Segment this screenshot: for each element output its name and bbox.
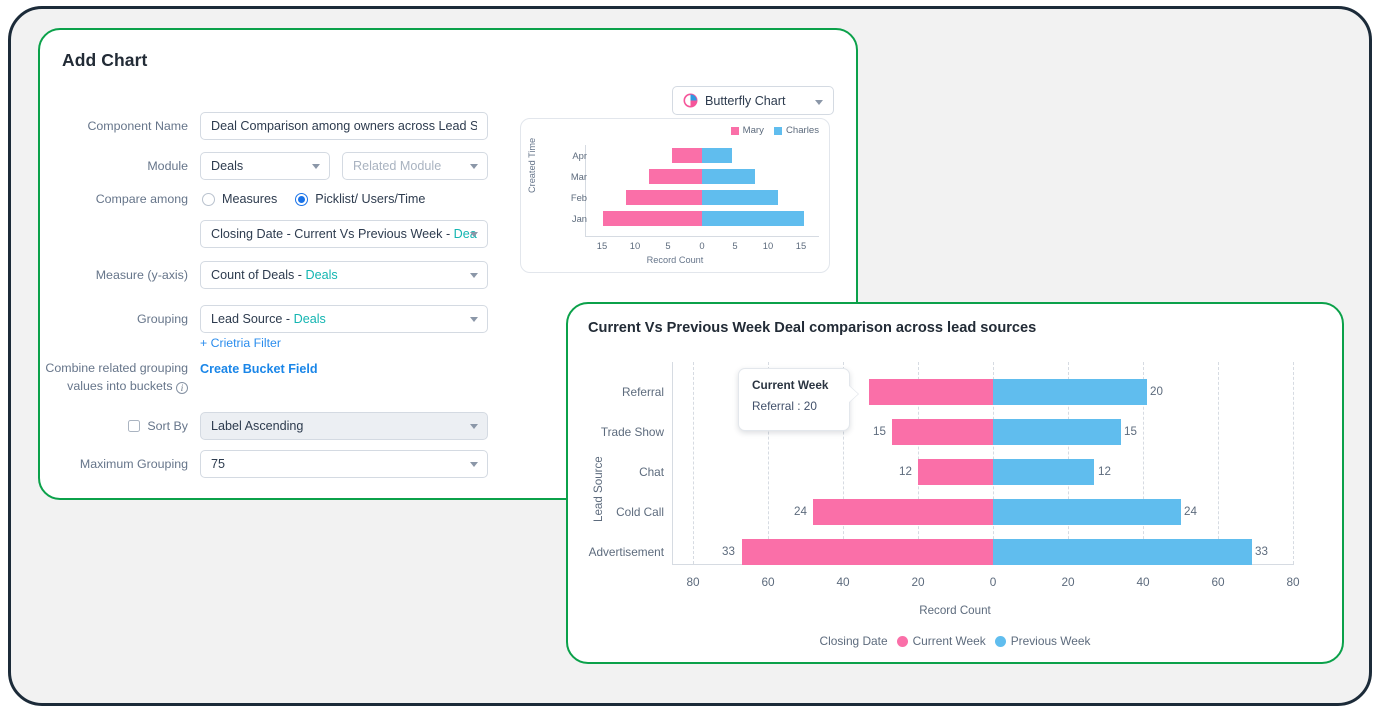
screenshot-root: Add Chart Component Name Deal Comparison… (0, 0, 1380, 712)
chevron-down-icon (470, 164, 478, 169)
chart-value-right: 15 (1124, 425, 1137, 438)
pie-chart-icon (683, 93, 698, 108)
preview-tick: 5 (658, 240, 678, 251)
measure-module: Deals (306, 268, 338, 282)
tooltip-text: Referral : 20 (752, 399, 849, 413)
preview-tick: 5 (725, 240, 745, 251)
field-measure: Measure (y-axis) Count of Deals - Deals (40, 261, 510, 289)
tooltip-title: Current Week (752, 378, 849, 392)
field-module: Module Deals Related Module (40, 152, 510, 180)
chart-value-left: 24 (794, 505, 807, 518)
field-compare-among: Compare among Measures Picklist/ Users/T… (40, 192, 510, 206)
chart-value-right: 20 (1150, 385, 1163, 398)
module-select[interactable]: Deals (200, 152, 330, 180)
chevron-down-icon (470, 424, 478, 429)
chart-title: Current Vs Previous Week Deal comparison… (588, 320, 1036, 336)
field-sort-by: Sort By Label Ascending (40, 412, 510, 440)
chevron-down-icon (470, 317, 478, 322)
chart-preview-panel: Mary Charles Created Time Apr Mar Feb Ja… (520, 118, 830, 273)
gridline (693, 362, 694, 564)
chart-tick: 80 (673, 575, 713, 589)
chart-x-axis-title: Record Count (568, 604, 1342, 617)
chart-tick: 0 (973, 575, 1013, 589)
chart-bar-current-week[interactable] (742, 539, 993, 565)
info-icon[interactable]: i (176, 382, 188, 394)
grouping-select[interactable]: Lead Source - Deals (200, 305, 488, 333)
field-component-name: Component Name Deal Comparison among own… (40, 112, 510, 140)
chart-cat-label: Cold Call (568, 505, 664, 519)
chart-tick: 40 (1123, 575, 1163, 589)
compare-field-value: Closing Date - Current Vs Previous Week … (211, 227, 454, 241)
chevron-down-icon (470, 273, 478, 278)
chart-cat-label: Advertisement (568, 545, 664, 559)
field-max-grouping: Maximum Grouping 75 (40, 450, 510, 478)
preview-bar-left (649, 169, 702, 184)
bucket-label-line2: values into buckets (67, 379, 172, 393)
chart-tick: 80 (1273, 575, 1313, 589)
grouping-value: Lead Source - (211, 312, 294, 326)
preview-tick: 10 (758, 240, 778, 251)
radio-measures[interactable]: Measures (202, 192, 277, 206)
chart-tick: 20 (898, 575, 938, 589)
chart-bar-previous-week[interactable] (993, 459, 1094, 485)
chart-bar-previous-week[interactable] (993, 539, 1252, 565)
chart-bar-current-week[interactable] (918, 459, 993, 485)
field-grouping: Grouping Lead Source - Deals (40, 305, 510, 333)
measure-label: Measure (y-axis) (40, 268, 188, 282)
radio-selected-icon (295, 193, 308, 206)
preview-bar-right (702, 169, 755, 184)
legend-item-previous-week[interactable]: Previous Week (995, 634, 1091, 648)
preview-bar-right (702, 211, 804, 226)
preview-tick: 15 (592, 240, 612, 251)
radio-picklist-users-time[interactable]: Picklist/ Users/Time (295, 192, 425, 206)
legend-label-previous-week: Previous Week (1011, 634, 1091, 648)
chart-type-value: Butterfly Chart (705, 94, 786, 108)
max-grouping-select[interactable]: 75 (200, 450, 488, 478)
preview-cat-label: Apr (572, 150, 587, 161)
preview-legend: Mary Charles (731, 125, 819, 136)
chart-value-right: 12 (1098, 465, 1111, 478)
chart-tick: 20 (1048, 575, 1088, 589)
preview-bar-right (702, 190, 778, 205)
preview-bar-left (672, 148, 702, 163)
chart-type-select[interactable]: Butterfly Chart (672, 86, 834, 115)
preview-cat-label: Jan (572, 213, 587, 224)
chevron-down-icon (815, 100, 823, 105)
chart-legend: Closing Date Current Week Previous Week (568, 634, 1342, 648)
compare-field-select[interactable]: Closing Date - Current Vs Previous Week … (200, 220, 488, 248)
sort-by-label-group: Sort By (40, 419, 188, 433)
preview-cat-label: Mar (571, 171, 587, 182)
preview-legend-label-charles: Charles (786, 125, 819, 136)
chevron-down-icon (312, 164, 320, 169)
chart-value-left: 12 (899, 465, 912, 478)
sort-by-select[interactable]: Label Ascending (200, 412, 488, 440)
chart-bar-previous-week[interactable] (993, 419, 1121, 445)
chart-bar-current-week[interactable] (813, 499, 993, 525)
measure-select[interactable]: Count of Deals - Deals (200, 261, 488, 289)
sort-by-label: Sort By (147, 419, 188, 433)
max-grouping-label: Maximum Grouping (40, 457, 188, 471)
legend-title: Closing Date (820, 634, 888, 648)
max-grouping-value: 75 (211, 457, 225, 471)
module-value: Deals (211, 159, 243, 173)
preview-legend-item-mary: Mary (731, 125, 764, 136)
preview-tick: 10 (625, 240, 645, 251)
preview-x-axis-title: Record Count (521, 255, 829, 265)
chart-bar-previous-week[interactable] (993, 499, 1181, 525)
preview-bar-left (626, 190, 702, 205)
preview-legend-item-charles: Charles (774, 125, 819, 136)
radio-icon (202, 193, 215, 206)
chart-tick: 40 (823, 575, 863, 589)
legend-item-current-week[interactable]: Current Week (897, 634, 986, 648)
gridline (1293, 362, 1294, 564)
grouping-label: Grouping (40, 312, 188, 326)
legend-swatch-icon (774, 127, 782, 135)
sort-by-checkbox[interactable] (128, 420, 140, 432)
chart-tick: 60 (748, 575, 788, 589)
compare-among-label: Compare among (40, 192, 188, 206)
component-name-value: Deal Comparison among owners across Lead… (211, 119, 477, 133)
chevron-down-icon (470, 232, 478, 237)
chart-cat-label: Referral (568, 385, 664, 399)
grouping-module: Deals (294, 312, 326, 326)
radio-picklist-label: Picklist/ Users/Time (315, 192, 425, 206)
chart-tick: 60 (1198, 575, 1238, 589)
chart-value-right: 33 (1255, 545, 1268, 558)
measure-value: Count of Deals - (211, 268, 306, 282)
component-name-label: Component Name (40, 119, 188, 133)
preview-cat-label: Feb (571, 192, 587, 203)
chart-cat-label: Chat (568, 465, 664, 479)
chart-bar-current-week[interactable] (892, 419, 993, 445)
preview-y-axis-title: Created Time (527, 138, 537, 193)
legend-dot-icon (897, 636, 908, 647)
result-chart-panel: Current Vs Previous Week Deal comparison… (566, 302, 1344, 664)
chart-bar-current-week[interactable] (869, 379, 993, 405)
preview-bar-right (702, 148, 732, 163)
create-bucket-field-link[interactable]: Create Bucket Field (200, 362, 318, 376)
preview-x-axis-line (585, 236, 819, 237)
legend-label-current-week: Current Week (913, 634, 986, 648)
chart-y-axis-line (672, 362, 673, 564)
chart-value-right: 24 (1184, 505, 1197, 518)
page-title: Add Chart (62, 50, 147, 71)
component-name-input[interactable]: Deal Comparison among owners across Lead… (200, 112, 488, 140)
related-module-placeholder: Related Module (353, 159, 441, 173)
gridline (1218, 362, 1219, 564)
legend-dot-icon (995, 636, 1006, 647)
criteria-filter-link[interactable]: + Crietria Filter (200, 336, 281, 350)
chart-tooltip: Current Week Referral : 20 (738, 368, 850, 431)
preview-tick: 0 (692, 240, 712, 251)
preview-tick: 15 (791, 240, 811, 251)
chart-cat-label: Trade Show (568, 425, 664, 439)
bucket-label-line1: Combine related grouping (40, 361, 188, 375)
chart-value-left: 33 (722, 545, 735, 558)
preview-bar-left (603, 211, 702, 226)
module-label: Module (40, 159, 188, 173)
sort-by-value: Label Ascending (211, 419, 303, 433)
bucket-label-block: Combine related grouping values into buc… (40, 361, 188, 394)
chart-value-left: 15 (873, 425, 886, 438)
chart-bar-previous-week[interactable] (993, 379, 1147, 405)
chevron-down-icon (470, 462, 478, 467)
legend-swatch-icon (731, 127, 739, 135)
field-compare-select: Closing Date - Current Vs Previous Week … (200, 220, 488, 248)
radio-measures-label: Measures (222, 192, 277, 206)
related-module-select[interactable]: Related Module (342, 152, 488, 180)
tooltip-arrow-icon (848, 385, 858, 403)
preview-legend-label-mary: Mary (743, 125, 764, 136)
